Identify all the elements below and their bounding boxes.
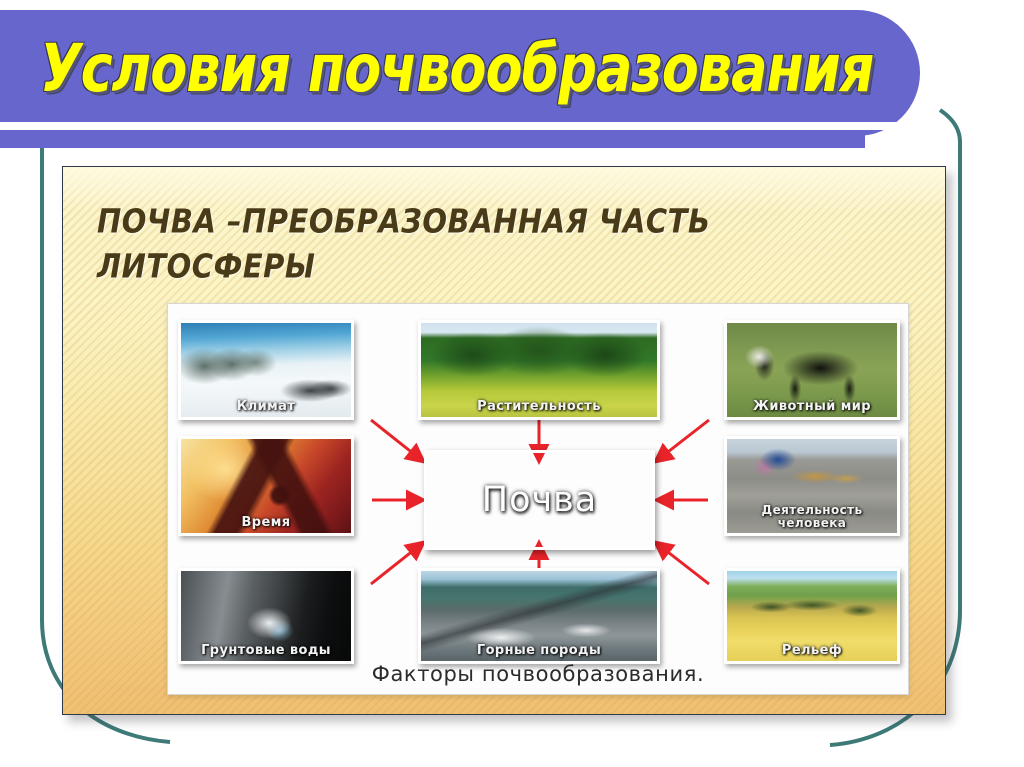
factor-label: Климат xyxy=(181,400,351,414)
factor-label: Растительность xyxy=(421,400,657,414)
factor-cell-rocks[interactable]: Горные породы xyxy=(418,568,660,664)
factor-label: Горные породы xyxy=(421,644,657,658)
center-cell-soil[interactable]: Почва xyxy=(424,450,655,550)
presentation-slide: Условия почвообразования ПОЧВА –ПРЕОБРАЗ… xyxy=(0,0,1024,767)
content-panel: ПОЧВА –ПРЕОБРАЗОВАННАЯ ЧАСТЬ ЛИТОСФЕРЫ xyxy=(62,166,946,715)
factor-cell-groundwater[interactable]: Грунтовые воды xyxy=(178,568,354,664)
header-underline xyxy=(0,122,900,130)
factor-cell-time[interactable]: Время xyxy=(178,436,354,536)
factor-cell-climate[interactable]: Климат xyxy=(178,320,354,420)
factor-label: Животный мир xyxy=(727,400,897,414)
factor-label: Время xyxy=(181,516,351,530)
factor-cell-animals[interactable]: Животный мир xyxy=(724,320,900,420)
factor-cell-human-activity[interactable]: Деятельность человека xyxy=(724,436,900,536)
page-title: Условия почвообразования xyxy=(40,30,900,107)
factor-label: Грунтовые воды xyxy=(181,644,351,658)
diagram-caption: Факторы почвообразования. xyxy=(168,662,908,686)
factor-cell-relief[interactable]: Рельеф xyxy=(724,568,900,664)
center-label: Почва xyxy=(427,480,652,520)
panel-heading: ПОЧВА –ПРЕОБРАЗОВАННАЯ ЧАСТЬ ЛИТОСФЕРЫ xyxy=(97,199,797,289)
diagram-board: Климат Растительность Животный мир Время… xyxy=(167,303,909,695)
factor-cell-vegetation[interactable]: Растительность xyxy=(418,320,660,420)
factor-label: Деятельность человека xyxy=(727,504,897,530)
factor-label: Рельеф xyxy=(727,644,897,658)
